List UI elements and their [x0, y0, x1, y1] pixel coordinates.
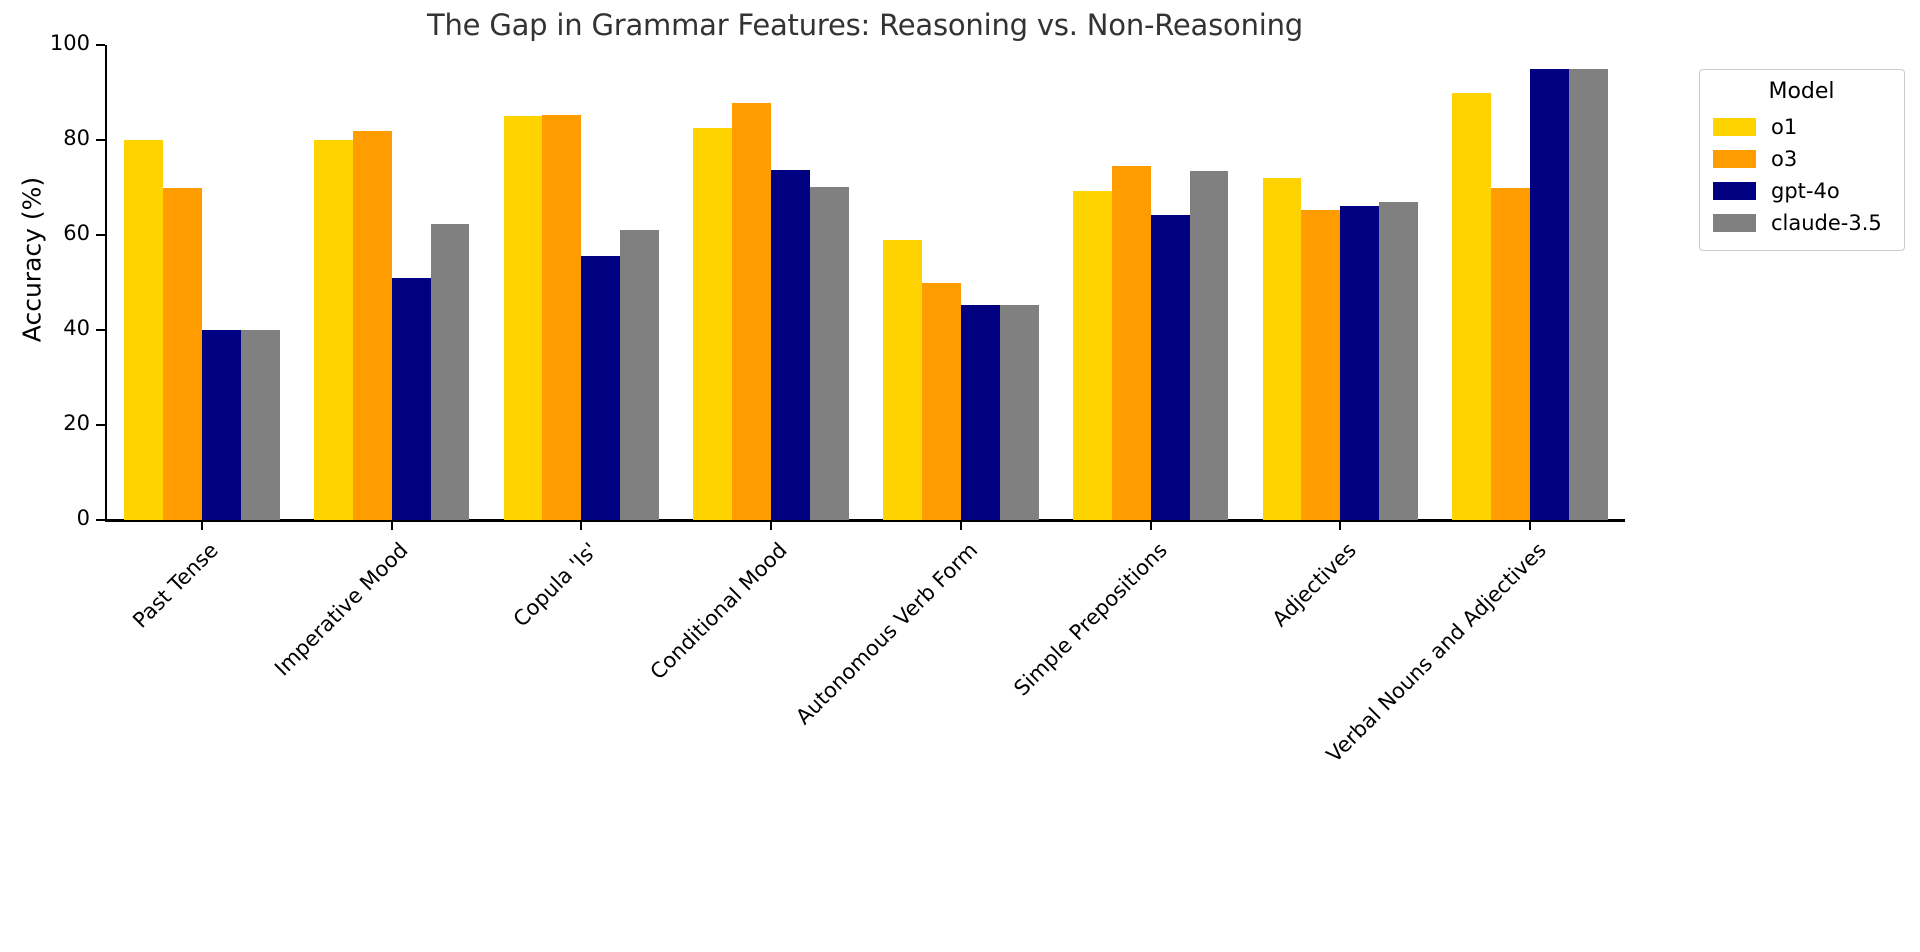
legend-swatch-icon — [1713, 118, 1756, 136]
bar — [1263, 178, 1302, 520]
x-tick-mark — [1150, 521, 1152, 530]
legend-label: gpt-4o — [1771, 179, 1840, 203]
x-tick-mark — [960, 521, 962, 530]
x-tick-label: Past Tense — [128, 538, 223, 633]
x-tick-label: Simple Prepositions — [1009, 538, 1172, 701]
x-tick-label: Verbal Nouns and Adjectives — [1322, 538, 1551, 767]
bar — [353, 131, 392, 521]
legend-swatch-icon — [1713, 214, 1756, 232]
x-tick-mark — [391, 521, 393, 530]
legend-entry-claude-3-5[interactable]: claude-3.5 — [1713, 207, 1890, 239]
legend-entries: o1o3gpt-4oclaude-3.5 — [1713, 111, 1890, 239]
bar — [1301, 210, 1340, 520]
bar — [542, 115, 581, 520]
bar — [392, 278, 431, 520]
x-tick-label: Conditional Mood — [646, 538, 792, 684]
bar — [693, 128, 732, 520]
legend-label: claude-3.5 — [1771, 211, 1882, 235]
bar — [1340, 206, 1379, 520]
y-tick-label: 20 — [20, 411, 90, 435]
y-tick-label: 80 — [20, 126, 90, 150]
bar — [504, 116, 543, 520]
y-tick-label: 40 — [20, 316, 90, 340]
legend-entry-gpt-4o[interactable]: gpt-4o — [1713, 175, 1890, 207]
legend-entry-o3[interactable]: o3 — [1713, 143, 1890, 175]
legend[interactable]: Model o1o3gpt-4oclaude-3.5 — [1699, 69, 1905, 251]
legend-swatch-icon — [1713, 150, 1756, 168]
x-tick-label: Autonomous Verb Form — [791, 538, 982, 729]
legend-title: Model — [1713, 79, 1890, 104]
x-tick-mark — [201, 521, 203, 530]
bar — [771, 170, 810, 520]
x-tick-label: Copula 'Is' — [509, 538, 602, 631]
legend-label: o1 — [1771, 115, 1797, 139]
bar — [163, 188, 202, 521]
y-tick-label: 0 — [20, 506, 90, 530]
bar — [1151, 215, 1190, 520]
bar — [1530, 69, 1569, 520]
bar — [620, 230, 659, 520]
bar — [732, 103, 771, 520]
bar — [241, 330, 280, 520]
y-tick-mark — [96, 519, 105, 521]
bar — [1452, 93, 1491, 521]
bar — [1379, 202, 1418, 520]
y-tick-mark — [96, 234, 105, 236]
x-tick-mark — [580, 521, 582, 530]
y-tick-mark — [96, 424, 105, 426]
plot-area — [107, 45, 1625, 520]
bar — [1112, 166, 1151, 520]
x-tick-mark — [1339, 521, 1341, 530]
bar — [202, 330, 241, 520]
x-tick-mark — [770, 521, 772, 530]
chart-figure: The Gap in Grammar Features: Reasoning v… — [0, 0, 1920, 952]
chart-title: The Gap in Grammar Features: Reasoning v… — [100, 8, 1630, 42]
bar — [810, 187, 849, 520]
bar — [431, 224, 470, 520]
bar — [961, 305, 1000, 520]
y-tick-label: 60 — [20, 221, 90, 245]
legend-label: o3 — [1771, 147, 1797, 171]
bar — [1491, 188, 1530, 521]
bar — [1190, 171, 1229, 520]
bar — [314, 140, 353, 520]
y-tick-label: 100 — [20, 31, 90, 55]
x-tick-mark — [1529, 521, 1531, 530]
x-tick-label: Adjectives — [1268, 538, 1361, 631]
x-tick-label: Imperative Mood — [270, 538, 413, 681]
bar — [1000, 305, 1039, 520]
y-axis-label: Accuracy (%) — [18, 60, 47, 460]
y-tick-mark — [96, 329, 105, 331]
legend-swatch-icon — [1713, 182, 1756, 200]
bar — [883, 240, 922, 520]
bar — [581, 256, 620, 520]
legend-entry-o1[interactable]: o1 — [1713, 111, 1890, 143]
bar — [922, 283, 961, 521]
y-tick-mark — [96, 44, 105, 46]
bar — [1073, 191, 1112, 520]
bar — [1569, 69, 1608, 520]
y-tick-mark — [96, 139, 105, 141]
bar — [124, 140, 163, 520]
